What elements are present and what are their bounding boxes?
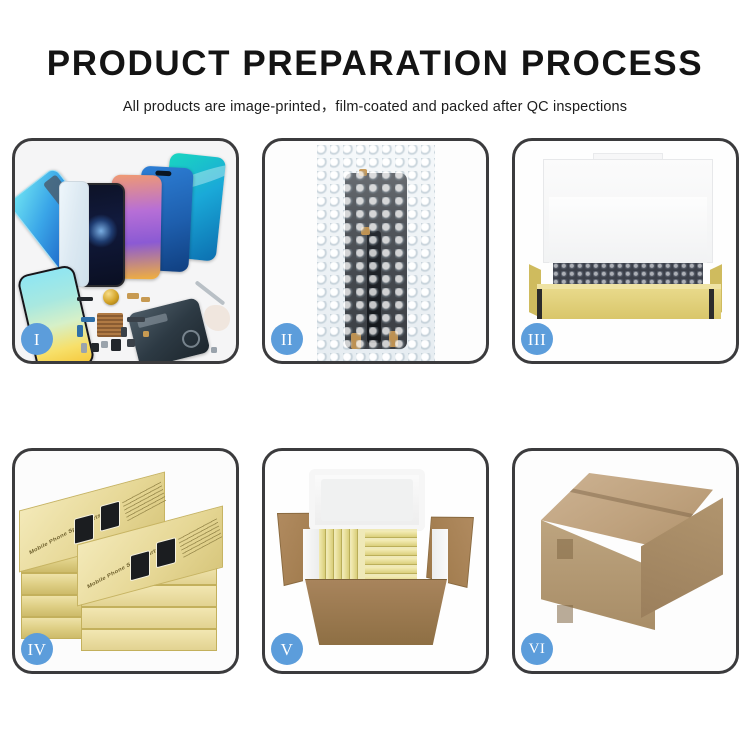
- sealed-carton: [531, 473, 723, 649]
- step-badge-2: II: [271, 323, 303, 355]
- inner-box: [365, 558, 417, 565]
- foam-sheet: [549, 197, 707, 263]
- process-step-6[interactable]: VI: [512, 448, 739, 674]
- header: PRODUCT PREPARATION PROCESS All products…: [0, 0, 750, 116]
- inner-box: [335, 529, 342, 583]
- box-corner-left: [537, 289, 542, 319]
- step-badge-6: VI: [521, 633, 553, 665]
- inner-box: [365, 567, 417, 574]
- small-part: [211, 347, 217, 353]
- phone-print-image: [156, 537, 176, 568]
- speaker-coil-part: [103, 289, 119, 305]
- small-part: [81, 317, 95, 322]
- styrofoam-lid: [309, 469, 425, 531]
- box-front-yellow: [537, 289, 721, 319]
- bubble-wrap-bag: [317, 145, 435, 363]
- process-step-1[interactable]: I: [12, 138, 239, 364]
- bubble-texture-front: [317, 145, 435, 363]
- page-subtitle: All products are image-printed，film-coat…: [0, 95, 750, 116]
- process-step-3[interactable]: III: [512, 138, 739, 364]
- copper-chip-grid-part: [97, 313, 123, 337]
- styrofoam-wall-right: [432, 529, 448, 583]
- small-part: [77, 325, 83, 337]
- small-part: [77, 297, 93, 301]
- small-part: [121, 327, 127, 337]
- process-step-5[interactable]: V: [262, 448, 489, 674]
- inner-box: [343, 529, 350, 583]
- phone-print-image: [130, 550, 150, 581]
- small-part: [81, 343, 87, 353]
- inner-box: [365, 549, 417, 556]
- process-step-4[interactable]: Mobile Phone Spare Parts Mobile Phone Sp…: [12, 448, 239, 674]
- carton-flap-tab: [557, 605, 573, 623]
- small-part: [111, 339, 121, 351]
- inner-box: [319, 529, 326, 583]
- box-corner-right: [709, 289, 714, 319]
- inner-box: [327, 529, 334, 583]
- tweezers-and-hand: [186, 289, 230, 335]
- small-part: [127, 293, 139, 299]
- inner-box: [365, 531, 417, 538]
- small-part: [91, 343, 99, 352]
- step-badge-3: III: [521, 323, 553, 355]
- phone-print-image: [100, 500, 120, 531]
- step-badge-4: IV: [21, 633, 53, 665]
- carton-body: [305, 579, 447, 645]
- small-part: [101, 341, 108, 348]
- box-stack-group: Mobile Phone Spare Parts Mobile Phone Sp…: [19, 465, 235, 665]
- small-part: [143, 331, 149, 337]
- inner-box: [365, 540, 417, 547]
- box-spec-lines: [178, 517, 222, 557]
- styrofoam-wall-left: [303, 529, 319, 583]
- stacked-box: [81, 607, 217, 629]
- small-part: [127, 339, 135, 347]
- step-badge-1: I: [21, 323, 53, 355]
- product-preparation-infographic: PRODUCT PREPARATION PROCESS All products…: [0, 0, 750, 750]
- process-step-2[interactable]: II: [262, 138, 489, 364]
- inner-boxes-group: [319, 529, 417, 583]
- page-title: PRODUCT PREPARATION PROCESS: [0, 46, 750, 81]
- box-spec-lines: [122, 481, 166, 521]
- small-part: [141, 297, 150, 302]
- stacked-box: [81, 629, 217, 651]
- small-part: [127, 317, 145, 322]
- step-badge-5: V: [271, 633, 303, 665]
- carton-flap-tab: [557, 539, 573, 559]
- inner-box: [351, 529, 358, 583]
